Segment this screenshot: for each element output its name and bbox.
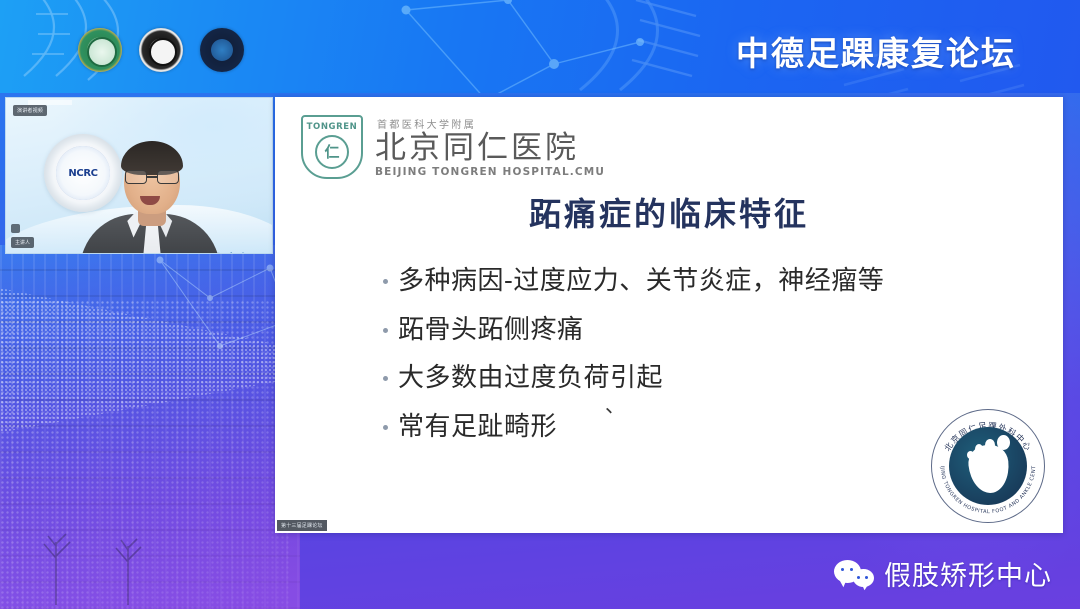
bullet-dot-icon: [383, 328, 388, 333]
hospital-sub-line: 首都医科大学附属: [377, 116, 605, 131]
list-item: 大多数由过度负荷引起: [383, 360, 1033, 398]
forum-emblem-navy-icon: [200, 28, 244, 72]
bullet-dot-icon: [383, 425, 388, 430]
forum-title: 中德足踝康复论坛: [736, 27, 1016, 75]
wechat-icon: [834, 560, 874, 588]
glasses-bridge: [147, 176, 157, 178]
footprint-icon: [949, 427, 1027, 505]
bullet-dot-icon: [383, 376, 388, 381]
forum-header-banner: 中德足踝康复论坛: [0, 0, 1080, 93]
presentation-slide[interactable]: TONGREN 仁 首都医科大学附属 北京同仁医院 BEIJING TONGRE…: [275, 97, 1063, 533]
hospital-english-line: BEIJING TONGREN HOSPITAL.CMU: [375, 166, 605, 178]
tongren-shield-icon: TONGREN 仁: [301, 115, 363, 179]
bullet-text: 跖骨头跖侧疼痛: [398, 312, 584, 350]
video-bottom-label: 主讲人: [11, 237, 34, 248]
list-item: 跖骨头跖侧疼痛: [383, 312, 1033, 350]
list-item: 多种病因-过度应力、关节炎症，神经瘤等: [383, 263, 1033, 301]
microphone-icon[interactable]: [11, 224, 20, 233]
forum-emblem-black-icon: [139, 28, 183, 72]
watermark-label: 假肢矫形中心: [884, 554, 1052, 593]
wechat-watermark: 假肢矫形中心: [834, 554, 1052, 593]
footprint-toe: [997, 435, 1010, 450]
shield-mark: 仁: [315, 135, 349, 169]
slide-stray-mark: 、: [605, 389, 625, 418]
hospital-main-line: 北京同仁医院: [375, 132, 605, 165]
footprint-toe: [975, 444, 983, 454]
hospital-logo: TONGREN 仁 首都医科大学附属 北京同仁医院 BEIJING TONGRE…: [301, 115, 605, 179]
background-trees: [0, 450, 240, 609]
foot-ankle-center-logo: 北京同仁足踝外科中心 BEIJING TONGREN HOSPITAL FOOT…: [931, 409, 1045, 523]
forum-emblem-green-icon: [78, 28, 122, 72]
glasses-icon: [125, 170, 179, 185]
glasses-lens-right: [157, 170, 179, 184]
hospital-name-block: 首都医科大学附属 北京同仁医院 BEIJING TONGREN HOSPITAL…: [375, 116, 605, 178]
footprint-toe: [967, 451, 974, 459]
footprint-toe: [985, 439, 995, 451]
screen-root: 中德足踝康复论坛 NCRC 骨科与运动康复 医学研究中心 National Re…: [0, 0, 1080, 609]
video-top-label: 演讲者视频: [13, 105, 47, 116]
speaker-person: [84, 128, 214, 254]
bullet-text: 多种病因-过度应力、关节炎症，神经瘤等: [398, 263, 884, 301]
bullet-text: 常有足趾畸形: [398, 409, 557, 447]
slide-title: 跖痛症的临床特征: [275, 189, 1063, 235]
shield-top-text: TONGREN: [307, 122, 358, 132]
slide-bottom-tag: 第十三届足踝论坛: [277, 520, 327, 531]
hex-network-icon: [390, 0, 690, 93]
forum-logo-group: [78, 28, 244, 72]
glasses-lens-left: [125, 170, 147, 184]
bullet-dot-icon: [383, 279, 388, 284]
speaker-video-panel[interactable]: NCRC 骨科与运动康复 医学研究中心 National Research Ce…: [5, 97, 273, 254]
